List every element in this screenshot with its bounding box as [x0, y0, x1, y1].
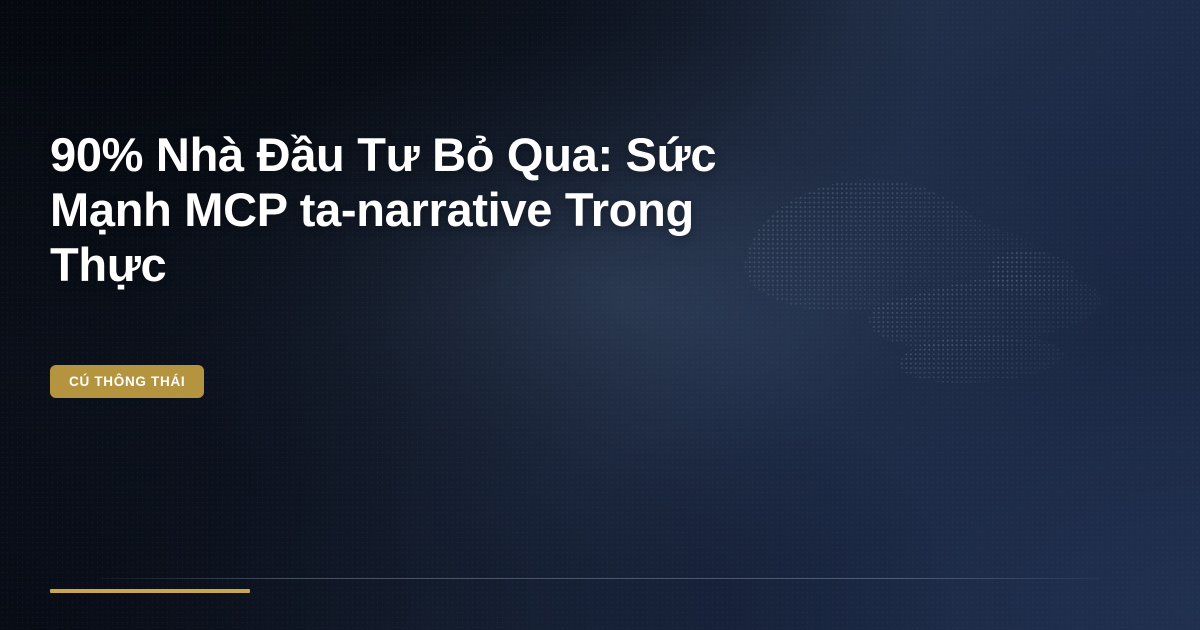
- background-dot-texture: [0, 0, 1200, 630]
- divider-line: [100, 578, 1100, 579]
- social-share-card: 90% Nhà Đầu Tư Bỏ Qua: Sức Mạnh MCP ta-n…: [0, 0, 1200, 630]
- gold-accent-rule: [50, 589, 250, 593]
- page-title: 90% Nhà Đầu Tư Bỏ Qua: Sức Mạnh MCP ta-n…: [50, 128, 750, 293]
- brand-badge[interactable]: CÚ THÔNG THÁI: [50, 365, 204, 398]
